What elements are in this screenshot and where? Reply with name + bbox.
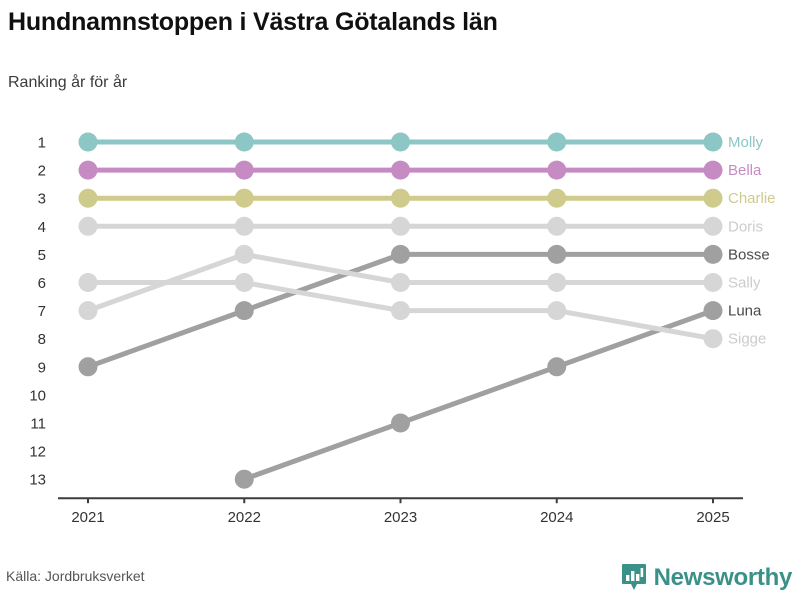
- series-label-doris: Doris: [728, 218, 763, 235]
- data-point-marker[interactable]: [391, 217, 410, 236]
- data-point-marker[interactable]: [547, 161, 566, 180]
- data-point-marker[interactable]: [704, 245, 723, 264]
- data-point-marker[interactable]: [235, 217, 254, 236]
- data-point-marker[interactable]: [391, 189, 410, 208]
- x-axis-tick-label: 2022: [228, 509, 261, 526]
- data-point-marker[interactable]: [704, 301, 723, 320]
- newsworthy-mark-icon: [621, 563, 647, 593]
- series-doris: Doris: [79, 217, 764, 236]
- data-point-marker[interactable]: [391, 273, 410, 292]
- series-label-luna: Luna: [728, 303, 762, 320]
- data-point-marker[interactable]: [391, 161, 410, 180]
- data-point-marker[interactable]: [547, 245, 566, 264]
- data-point-marker[interactable]: [547, 357, 566, 376]
- brand-logo: Newsworthy: [621, 563, 792, 593]
- data-point-marker[interactable]: [704, 273, 723, 292]
- y-axis-tick-label: 10: [29, 387, 46, 404]
- y-axis-tick-label: 8: [38, 331, 46, 348]
- source-note: Källa: Jordbruksverket: [6, 568, 145, 584]
- x-axis-tick-label: 2025: [696, 509, 729, 526]
- data-point-marker[interactable]: [391, 245, 410, 264]
- series-label-sally: Sally: [728, 274, 761, 291]
- chart-svg: 12345678910111213MollyBellaCharlieDorisB…: [0, 0, 800, 600]
- y-axis-tick-label: 1: [38, 135, 46, 152]
- data-point-marker[interactable]: [79, 133, 98, 152]
- series-label-sigge: Sigge: [728, 331, 766, 348]
- y-axis-tick-label: 9: [38, 359, 46, 376]
- brand-name: Newsworthy: [654, 564, 792, 592]
- series-bella: Bella: [79, 161, 763, 180]
- data-point-marker[interactable]: [235, 273, 254, 292]
- y-axis-tick-label: 7: [38, 303, 46, 320]
- series-label-bosse: Bosse: [728, 246, 770, 263]
- data-point-marker[interactable]: [79, 301, 98, 320]
- series-label-bella: Bella: [728, 162, 762, 179]
- data-point-marker[interactable]: [391, 133, 410, 152]
- data-point-marker[interactable]: [391, 414, 410, 433]
- y-axis-tick-label: 3: [38, 191, 46, 208]
- data-point-marker[interactable]: [704, 217, 723, 236]
- data-point-marker[interactable]: [547, 217, 566, 236]
- data-point-marker[interactable]: [79, 357, 98, 376]
- y-axis-tick-label: 12: [29, 444, 46, 461]
- chart-plot-area: 12345678910111213MollyBellaCharlieDorisB…: [0, 0, 800, 600]
- series-label-molly: Molly: [728, 134, 764, 151]
- y-axis-tick-label: 11: [30, 416, 46, 433]
- data-point-marker[interactable]: [79, 217, 98, 236]
- data-point-marker[interactable]: [235, 245, 254, 264]
- data-point-marker[interactable]: [704, 329, 723, 348]
- x-axis-tick-label: 2024: [540, 509, 573, 526]
- data-point-marker[interactable]: [704, 133, 723, 152]
- data-point-marker[interactable]: [547, 273, 566, 292]
- x-axis-tick-label: 2023: [384, 509, 417, 526]
- data-point-marker[interactable]: [79, 161, 98, 180]
- y-axis-tick-label: 13: [29, 472, 46, 489]
- data-point-marker[interactable]: [547, 189, 566, 208]
- y-axis-tick-label: 4: [38, 219, 46, 236]
- data-point-marker[interactable]: [704, 189, 723, 208]
- data-point-marker[interactable]: [79, 273, 98, 292]
- y-axis-tick-label: 6: [38, 275, 46, 292]
- series-molly: Molly: [79, 133, 764, 152]
- data-point-marker[interactable]: [547, 133, 566, 152]
- data-point-marker[interactable]: [235, 470, 254, 489]
- series-charlie: Charlie: [79, 189, 776, 208]
- data-point-marker[interactable]: [79, 189, 98, 208]
- data-point-marker[interactable]: [235, 133, 254, 152]
- y-axis-tick-label: 2: [38, 163, 46, 180]
- series-line: [244, 311, 713, 480]
- data-point-marker[interactable]: [235, 189, 254, 208]
- data-point-marker[interactable]: [235, 161, 254, 180]
- x-axis-tick-label: 2021: [71, 509, 104, 526]
- series-luna: Luna: [235, 301, 762, 489]
- data-point-marker[interactable]: [235, 301, 254, 320]
- data-point-marker[interactable]: [704, 161, 723, 180]
- series-label-charlie: Charlie: [728, 190, 776, 207]
- data-point-marker[interactable]: [547, 301, 566, 320]
- data-point-marker[interactable]: [391, 301, 410, 320]
- y-axis-tick-label: 5: [38, 247, 46, 264]
